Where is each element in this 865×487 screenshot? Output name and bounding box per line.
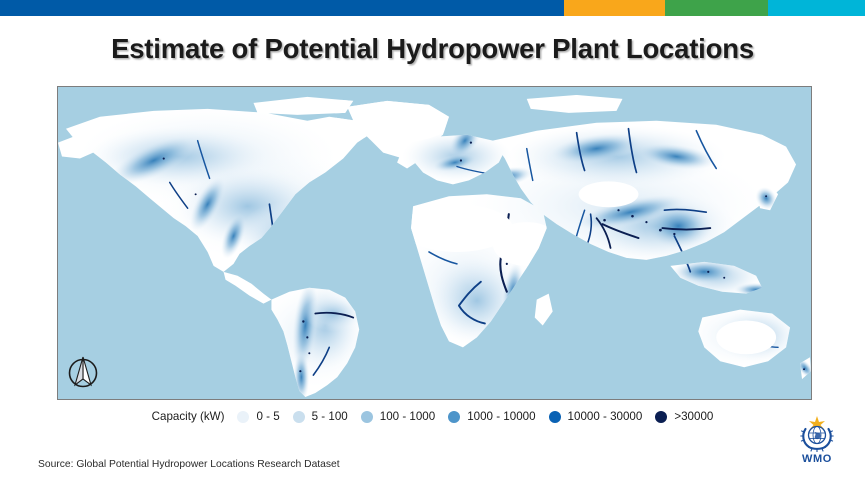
source-note: Source: Global Potential Hydropower Loca… [38, 459, 340, 470]
north-arrow-icon [64, 352, 102, 392]
map-legend: Capacity (kW) 0 - 5 5 - 100 100 - 1000 1… [0, 410, 865, 423]
world-hydropower-map [58, 87, 811, 399]
brand-color-bar [0, 0, 865, 16]
legend-swatch-1 [293, 411, 305, 423]
legend-swatch-5 [655, 411, 667, 423]
wmo-wordmark: WMO [788, 453, 846, 465]
color-bar-segment-blue [0, 0, 564, 16]
legend-item-4: 10000 - 30000 [549, 410, 643, 423]
legend-label-0: 0 - 5 [256, 410, 279, 423]
legend-label-5: >30000 [674, 410, 713, 423]
legend-swatch-0 [237, 411, 249, 423]
legend-item-2: 100 - 1000 [361, 410, 435, 423]
legend-label-1: 5 - 100 [312, 410, 348, 423]
legend-title: Capacity (kW) [152, 410, 225, 423]
legend-swatch-3 [448, 411, 460, 423]
legend-item-5: >30000 [655, 410, 713, 423]
legend-label-3: 1000 - 10000 [467, 410, 535, 423]
color-bar-segment-orange [564, 0, 665, 16]
wmo-emblem-icon [797, 416, 837, 452]
page-title: Estimate of Potential Hydropower Plant L… [0, 33, 865, 65]
wmo-logo: WMO [788, 416, 846, 468]
legend-swatch-4 [549, 411, 561, 423]
legend-item-3: 1000 - 10000 [448, 410, 535, 423]
color-bar-segment-green [665, 0, 768, 16]
legend-label-2: 100 - 1000 [380, 410, 435, 423]
legend-swatch-2 [361, 411, 373, 423]
map-panel[interactable] [57, 86, 812, 400]
color-bar-segment-cyan [768, 0, 865, 16]
legend-item-1: 5 - 100 [293, 410, 348, 423]
legend-label-4: 10000 - 30000 [568, 410, 643, 423]
legend-item-0: 0 - 5 [237, 410, 279, 423]
